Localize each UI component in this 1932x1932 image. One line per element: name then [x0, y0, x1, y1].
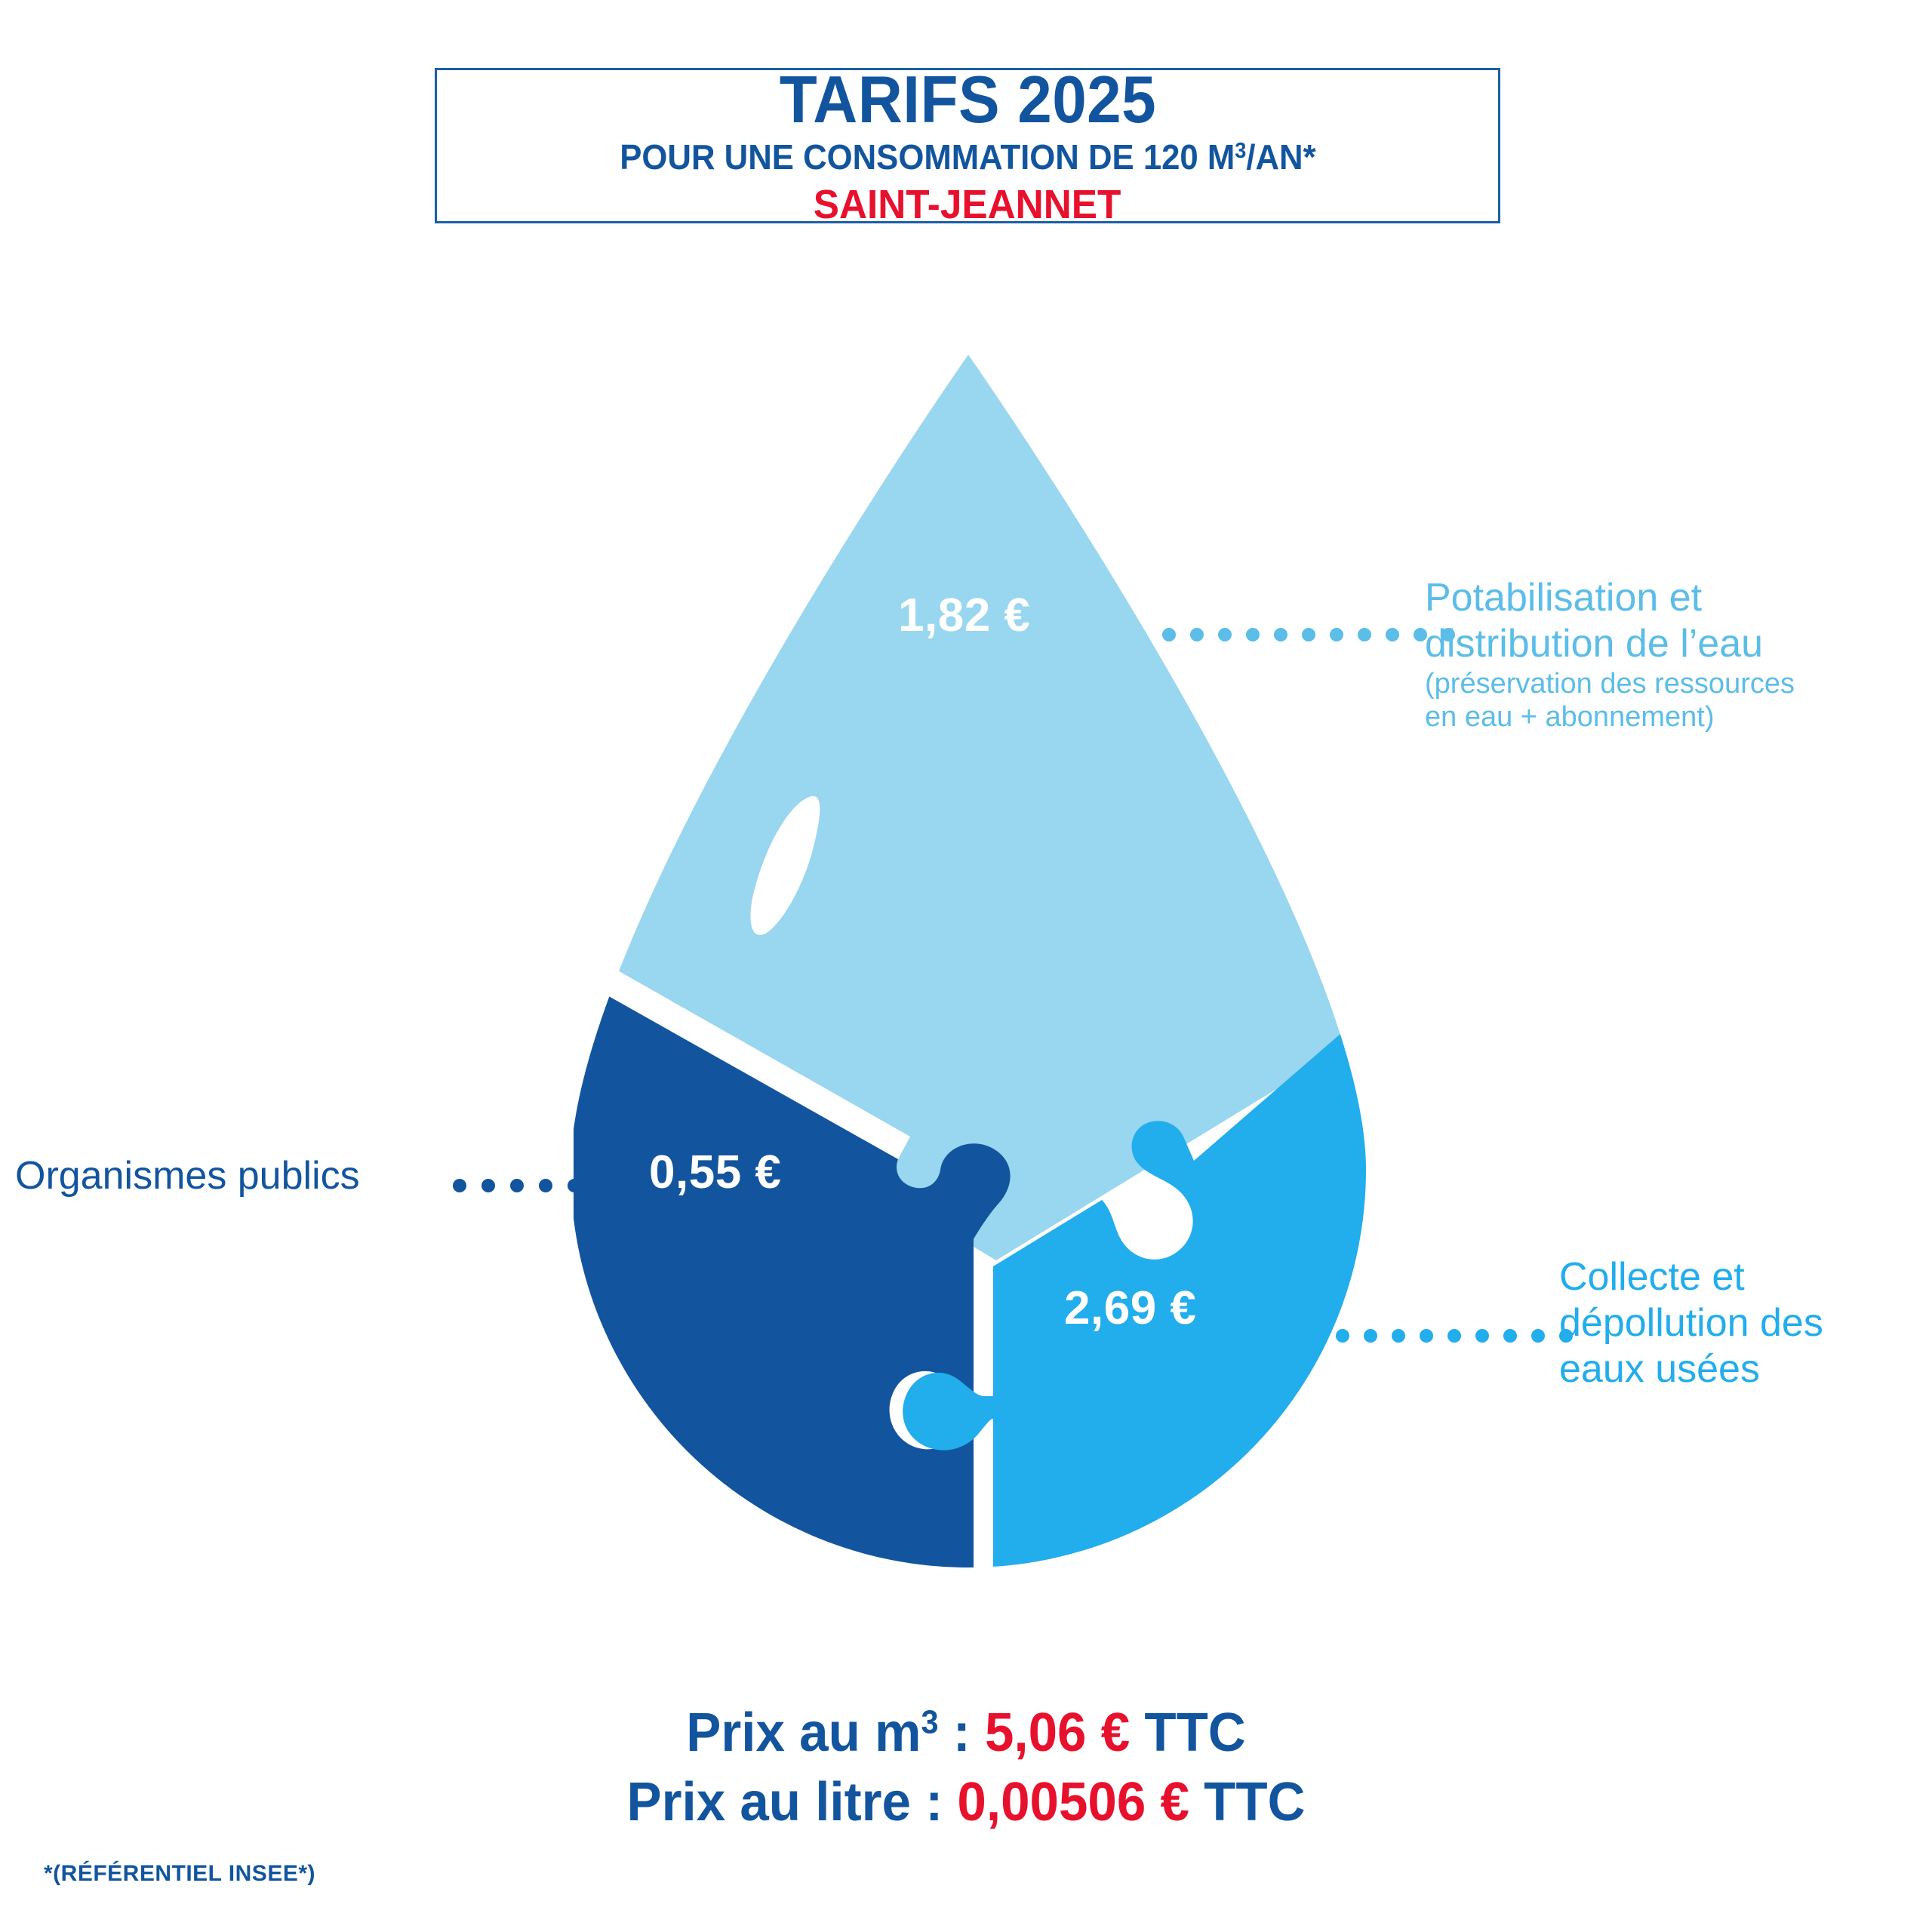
callout-label-collecte: Collecte et dépollution des eaux usées	[1559, 1254, 1914, 1392]
connector-dots-top	[1162, 628, 1455, 641]
segment-left-value: 0,55 €	[649, 1146, 781, 1199]
header-box: TARIFS 2025 POUR UNE CONSOMMATION DE 120…	[435, 68, 1500, 223]
segment-top-value: 1,82 €	[898, 589, 1030, 642]
callout-label-organismes: Organismes publics	[15, 1153, 438, 1199]
price-m3-colon: :	[939, 1703, 985, 1763]
water-drop-puzzle-chart	[574, 347, 1374, 1570]
footnote: *(RÉFÉRENTIEL INSEE*)	[44, 1861, 315, 1887]
callout-right-line3: eaux usées	[1559, 1346, 1914, 1392]
callout-top-line1: Potabilisation et	[1425, 575, 1900, 621]
header-subtitle: POUR UNE CONSOMMATION DE 120 M3/AN*	[620, 139, 1315, 175]
infographic-canvas: TARIFS 2025 POUR UNE CONSOMMATION DE 120…	[0, 0, 1932, 1932]
price-m3-label: Prix au m	[686, 1703, 921, 1763]
header-subtitle-prefix: POUR UNE CONSOMMATION DE 120 M	[620, 137, 1235, 177]
callout-top-note1: (préservation des ressources	[1425, 667, 1900, 700]
header-subtitle-suffix: /AN*	[1246, 137, 1315, 177]
connector-dots-right	[1336, 1329, 1573, 1343]
callout-right-line1: Collecte et	[1559, 1254, 1914, 1300]
callout-top-note2: en eau + abonnement)	[1425, 700, 1900, 734]
price-per-m3: Prix au m3 : 5,06 € TTC	[38, 1698, 1894, 1767]
price-litre-label: Prix au litre :	[627, 1772, 958, 1832]
price-m3-exponent: 3	[921, 1704, 938, 1740]
price-m3-suffix: TTC	[1130, 1703, 1246, 1763]
price-m3-amount: 5,06 €	[985, 1703, 1130, 1763]
connector-dots-left	[453, 1179, 581, 1192]
header-city: SAINT-JEANNET	[814, 183, 1121, 226]
price-summary: Prix au m3 : 5,06 € TTC Prix au litre : …	[0, 1698, 1932, 1837]
price-litre-suffix: TTC	[1189, 1772, 1306, 1832]
segment-right-value: 2,69 €	[1064, 1281, 1196, 1335]
price-per-litre: Prix au litre : 0,00506 € TTC	[38, 1767, 1894, 1837]
callout-label-potabilisation: Potabilisation et distribution de l’eau …	[1425, 575, 1900, 734]
header-subtitle-exponent: 3	[1235, 140, 1246, 164]
callout-left-line1: Organismes publics	[15, 1153, 438, 1199]
callout-top-line2: distribution de l’eau	[1425, 621, 1900, 667]
page-title: TARIFS 2025	[779, 66, 1155, 134]
price-litre-amount: 0,00506 €	[957, 1772, 1189, 1832]
drop-svg	[574, 347, 1374, 1570]
callout-right-line2: dépollution des	[1559, 1300, 1914, 1346]
